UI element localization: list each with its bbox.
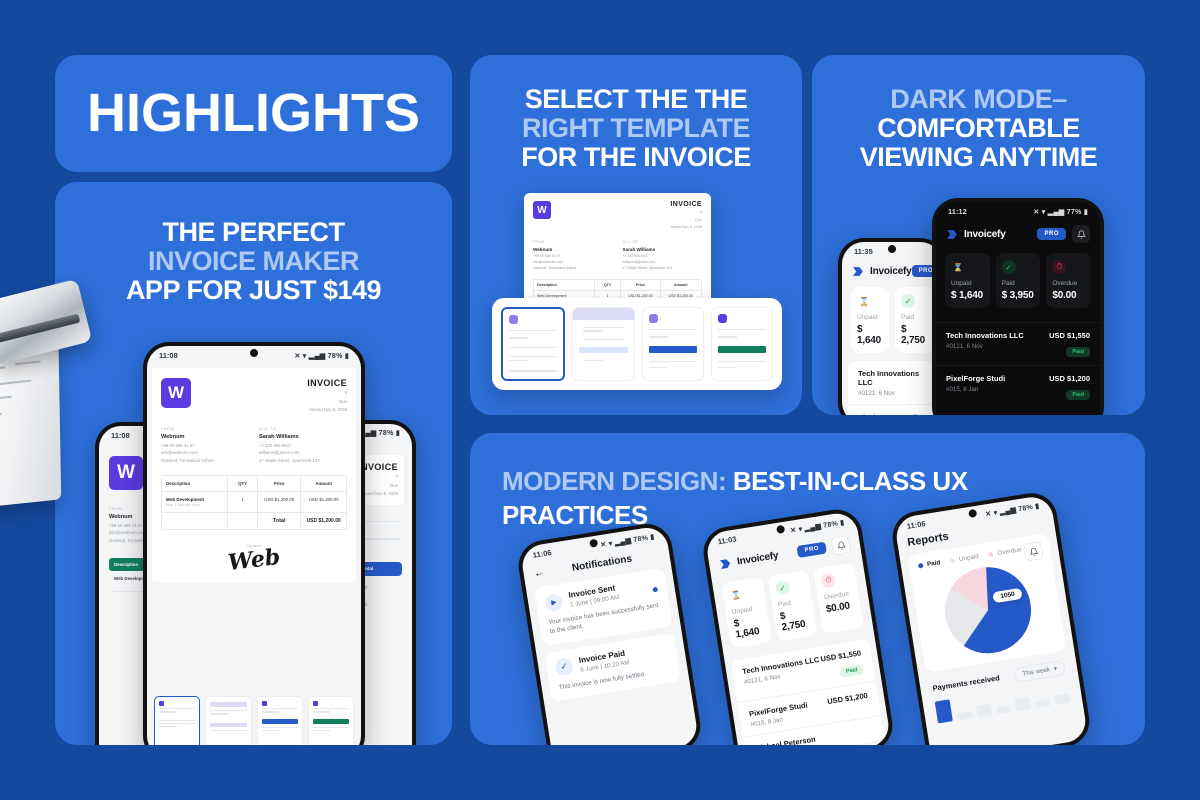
modern-line-2: BEST-IN-CLASS UX (733, 466, 968, 496)
template-card-blue[interactable] (642, 307, 704, 381)
bill-to-label: BILL TO (259, 426, 347, 431)
client-phone: +1 332 666 8547 (259, 442, 347, 449)
statusbar-time: 11:12 (948, 207, 967, 216)
modern-line-1: MODERN DESIGN: (502, 466, 726, 496)
clock-icon: ⏱ (821, 572, 837, 588)
invoice-client: PixelForge Studi (858, 413, 917, 415)
statusbar-icons: ✕ ▾ ▂▄▆ 78% ▮ (294, 352, 349, 360)
stat-value: $ 2,750 (779, 607, 811, 633)
legend-label: Unpaid (959, 553, 980, 563)
template-thumb-green[interactable] (308, 696, 354, 745)
dark-line-2: COMFORTABLE (824, 114, 1133, 143)
brand-logo-icon: W (161, 378, 191, 408)
screen-notifications: 11:06 ✕ ▾ ▂▄▆ 78% ▮ ← Notifications ► In… (520, 525, 700, 745)
from-address: Gastand, Tunisaland Ashort (161, 457, 249, 464)
cell-price: USD $1,200.00 (258, 492, 301, 512)
brand-logo-icon: W (533, 201, 551, 219)
pro-badge[interactable]: PRO (1037, 228, 1066, 240)
phone-notifications[interactable]: 11:06 ✕ ▾ ▂▄▆ 78% ▮ ← Notifications ► In… (515, 520, 704, 745)
stat-overdue[interactable]: ⏱ Overdue $0.00 (814, 562, 864, 634)
list-item[interactable]: Tech Innovations LLC #0121, 6 Nov USD $1… (936, 322, 1100, 365)
bell-icon[interactable] (1072, 225, 1090, 243)
stat-value: $ 3,950 (1002, 290, 1035, 301)
cell-description-text: Web Development (166, 497, 204, 502)
legend-label: Paid (927, 559, 941, 568)
phone-main-invoice[interactable]: 11:08 ✕ ▾ ▂▄▆ 78% ▮ W INVOICE # Due Issu… (143, 342, 365, 745)
brand: Invoicefy (946, 229, 1006, 240)
receipt-printer-illustration (0, 290, 91, 540)
panel-dark-mode: DARK MODE– COMFORTABLE VIEWING ANYTIME 1… (812, 55, 1145, 415)
from-address: Gastand, Tunisaland Ashort (533, 266, 613, 272)
template-line-1: SELECT THE THE (486, 85, 786, 114)
bill-to-label: BILL TO (623, 240, 703, 244)
dark-line-1: DARK MODE (890, 84, 1052, 114)
notification-item[interactable]: ✓ Invoice Paid 6 June | 10:20 AM This in… (544, 633, 681, 702)
statusbar-time: 11:03 (717, 534, 737, 546)
stat-label: Paid (1002, 280, 1035, 287)
column-amount: Amount (301, 476, 346, 491)
legend-unpaid[interactable]: Unpaid (950, 553, 980, 564)
cell-description-sub: Web. & Mrk new Level (166, 503, 223, 507)
from-name: Webnum (161, 434, 249, 440)
stat-value: $0.00 (1052, 290, 1085, 301)
poster-canvas: HIGHLIGHTS THE PERFECT INVOICE MAKER APP… (0, 0, 1200, 800)
printer-body (0, 279, 92, 365)
template-thumb-lavender[interactable] (205, 696, 251, 745)
template-line-2: RIGHT TEMPLATE (486, 114, 786, 143)
modern-line-3: PRACTICES (502, 499, 1090, 533)
stat-value: $ 1,640 (857, 324, 883, 346)
stat-label: Paid (901, 314, 927, 321)
stat-unpaid[interactable]: ⌛ Unpaid $ 1,640 (945, 253, 990, 308)
invoice-meta: #015, 8 Jan (946, 386, 1005, 393)
bell-icon[interactable] (831, 535, 852, 556)
client-name: Sarah Williams (259, 434, 347, 440)
total-spacer-2 (228, 513, 258, 529)
brand-logo-icon: W (109, 456, 143, 490)
pie-chart-svg (939, 561, 1037, 659)
template-title: SELECT THE THE RIGHT TEMPLATE FOR THE IN… (470, 55, 802, 172)
bar (1035, 699, 1051, 707)
bill-to-block: BILL TO Sarah Williams +1 332 666 8547 w… (259, 426, 347, 464)
list-item[interactable]: PixelForge Studi #015, 8 Jan USD $1,200 … (936, 365, 1100, 408)
dark-dash: – (1052, 84, 1067, 114)
table-header-row: Description QTY Price Amount (162, 476, 346, 492)
list-item[interactable]: PixelForge Studi #015, 8 Jan (848, 404, 936, 415)
check-circle-icon: ✓ (901, 294, 915, 308)
column-qty: QTY (595, 280, 621, 290)
send-icon: ► (544, 592, 563, 611)
column-amount: Amount (661, 280, 701, 290)
from-label: FROM (533, 240, 613, 244)
stat-value: $ 1,640 (951, 290, 984, 301)
legend-paid[interactable]: Paid (918, 559, 941, 569)
status-badge: Paid (839, 664, 864, 678)
bar (935, 699, 953, 723)
template-preview-document: W INVOICE # Due Issued Nov 6, 2026 FROM … (524, 193, 711, 311)
signature-block: Signature Web (161, 544, 347, 572)
column-qty: QTY (228, 476, 258, 491)
camera-punch-hole (888, 245, 896, 253)
invoice-amount: USD $1,550 (1049, 331, 1090, 340)
invoice-meta: #0121, 6 Nov (946, 343, 1024, 350)
status-badge: Paid (1066, 347, 1090, 357)
invoice-list: Tech Innovations LLC #0121, 6 Nov USD $1… (731, 639, 885, 745)
cell-qty: 1 (228, 492, 258, 512)
clock-icon: ⏱ (1052, 260, 1066, 274)
invoice-client: Michael Peterson (754, 735, 816, 745)
stat-paid[interactable]: ✓ Paid $ 2,750 (767, 570, 817, 642)
template-card-classic[interactable] (501, 307, 565, 381)
table-total-row: Total USD $1,200.00 (162, 513, 346, 529)
modern-design-title: MODERN DESIGN: BEST-IN-CLASS UX PRACTICE… (470, 433, 1090, 533)
total-value: USD $1,200.00 (301, 513, 346, 529)
statusbar-icons: ✕ ▾ ▂▄▆ 77% ▮ (1033, 208, 1088, 216)
invoice-amount: USD $1,200 (1049, 374, 1090, 383)
panel-perfect-invoice-maker: THE PERFECT INVOICE MAKER APP FOR JUST $… (55, 182, 452, 745)
stat-paid[interactable]: ✓ Paid $ 2,750 (895, 287, 933, 353)
printer-paper-slot (0, 314, 80, 344)
invoice-due: Due (670, 218, 702, 224)
invoice-amount: USD $1,200 (827, 691, 869, 706)
from-block: FROM Webnum +99 65 586 41 67 info@webnum… (161, 426, 249, 464)
cell-amount: USD $1,200.00 (301, 492, 346, 512)
from-label: FROM (161, 426, 249, 431)
legend-label: Overdue (997, 546, 1022, 557)
column-price: Price (621, 280, 660, 290)
legend-dot-icon (918, 563, 924, 569)
check-circle-icon: ✓ (1002, 260, 1016, 274)
total-spacer (162, 513, 228, 529)
chevron-down-icon: ▾ (1053, 665, 1057, 672)
invoice-due: Due (307, 399, 347, 406)
template-thumb-classic[interactable] (154, 696, 200, 745)
brand-name: Invoicefy (736, 550, 779, 567)
brand-name: Invoicefy (964, 229, 1006, 240)
stat-paid[interactable]: ✓ Paid $ 3,950 (996, 253, 1041, 308)
bar (976, 704, 992, 717)
invoice-parties: FROM Webnum +99 65 586 41 67 info@webnum… (161, 426, 347, 464)
status-badge: Paid (1066, 390, 1090, 400)
client-address: 47 Maple Street, Apartment 12A (623, 266, 703, 272)
screen-light-dashboard-2: 11:03 ✕ ▾ ▂▄▆ 78% ▮ Invoicefy PRO (704, 511, 891, 745)
statusbar-time: 11:06 (532, 548, 552, 560)
client-name: Sarah Williams (623, 247, 703, 252)
invoicefy-logo-icon (718, 557, 733, 570)
legend-dot-icon (988, 552, 994, 558)
camera-punch-hole (250, 349, 258, 357)
hourglass-icon: ⌛ (951, 260, 965, 274)
invoice-issued: Issued Nov 6, 2026 (307, 407, 347, 414)
legend-dot-icon (950, 558, 956, 564)
phone-light-dashboard[interactable]: 11:03 ✕ ▾ ▂▄▆ 78% ▮ Invoicefy PRO (700, 506, 896, 745)
perfect-line-3: APP FOR JUST $149 (79, 276, 428, 305)
template-thumb-blue[interactable] (257, 696, 303, 745)
invoice-header: W INVOICE # Due Issued Nov 6, 2026 (161, 378, 347, 414)
perfect-title: THE PERFECT INVOICE MAKER APP FOR JUST $… (55, 182, 452, 305)
highlights-title: HIGHLIGHTS (55, 55, 452, 172)
statusbar-dark-main: 11:12 ✕ ▾ ▂▄▆ 77% ▮ (936, 202, 1100, 218)
invoice-client: PixelForge Studi (946, 374, 1005, 383)
stat-value: $0.00 (825, 600, 855, 615)
invoice-issued: Issued Nov 6, 2026 (670, 225, 702, 231)
template-card-green[interactable] (711, 307, 773, 381)
invoice-meta: #0121, 6 Nov (858, 390, 926, 397)
template-gallery-tray[interactable] (492, 298, 782, 390)
stat-unpaid[interactable]: ⌛ Unpaid $ 1,640 (851, 287, 889, 353)
invoicefy-logo-icon (852, 266, 865, 277)
from-name: Webnum (533, 247, 613, 252)
invoice-list: Tech Innovations LLC #0121, 6 Nov USD $1… (936, 322, 1100, 408)
screen-dark-dashboard: 11:12 ✕ ▾ ▂▄▆ 77% ▮ Invoicefy PRO (936, 202, 1100, 415)
stat-overdue[interactable]: ⏱ Overdue $0.00 (1046, 253, 1091, 308)
table-row: Web Development Web. & Mrk new Level 1 U… (162, 492, 346, 513)
template-line-3: FOR THE INVOICE (486, 143, 786, 172)
reports-chart-card: Paid Unpaid Overdue (907, 533, 1066, 673)
cell-description: Web Development Web. & Mrk new Level (162, 492, 228, 512)
stat-label: Overdue (1052, 280, 1085, 287)
column-price: Price (258, 476, 301, 491)
stat-unpaid[interactable]: ⌛ Unpaid $ 1,640 (721, 577, 771, 649)
stats-row: ⌛ Unpaid $ 1,640 ✓ Paid $ 2,750 (842, 283, 942, 361)
bar (996, 705, 1012, 714)
invoicefy-logo-icon (946, 229, 959, 240)
screen-light-dashboard: 11:35 Invoicefy PRO ⌛ Unpaid (842, 242, 942, 415)
client-address: 47 Maple Street, Apartment 12A (259, 457, 347, 464)
stat-value: $ 1,640 (733, 614, 765, 640)
check-circle-icon: ✓ (555, 657, 574, 676)
check-circle-icon: ✓ (774, 580, 790, 596)
stat-label: Unpaid (951, 280, 984, 287)
column-description: Description (162, 476, 228, 491)
invoice-line-items-table: Description QTY Price Amount Web Develop… (161, 475, 347, 530)
phone-dark-dashboard[interactable]: 11:12 ✕ ▾ ▂▄▆ 77% ▮ Invoicefy PRO (932, 198, 1104, 415)
stat-value: $ 2,750 (901, 324, 927, 346)
template-card-lavender[interactable] (572, 307, 634, 381)
brand-name: Invoicefy (870, 266, 912, 277)
hourglass-icon: ⌛ (728, 587, 744, 603)
brand: Invoicefy (718, 550, 779, 570)
panel-select-template: SELECT THE THE RIGHT TEMPLATE FOR THE IN… (470, 55, 802, 415)
from-email: info@webnum.com (161, 449, 249, 456)
client-email: williams@gmion.com (259, 449, 347, 456)
invoice-number: # (307, 390, 347, 397)
perfect-line-2: INVOICE MAKER (79, 247, 428, 276)
template-carousel[interactable] (147, 696, 361, 745)
stat-label: Unpaid (857, 314, 883, 321)
invoice-number: # (670, 210, 702, 216)
app-header: Invoicefy PRO (936, 218, 1100, 249)
legend-overdue[interactable]: Overdue (988, 546, 1022, 558)
phone-light-dashboard-behind: 11:35 Invoicefy PRO ⌛ Unpaid (838, 238, 946, 415)
total-label: Total (258, 513, 301, 529)
invoice-client: Tech Innovations LLC (858, 369, 926, 387)
panel-modern-design: MODERN DESIGN: BEST-IN-CLASS UX PRACTICE… (470, 433, 1145, 745)
statusbar-time: 11:08 (111, 431, 130, 440)
panel-highlights: HIGHLIGHTS (55, 55, 452, 172)
invoice-client: Tech Innovations LLC (946, 331, 1024, 340)
statusbar-time: 11:08 (159, 351, 178, 360)
dark-mode-title: DARK MODE– COMFORTABLE VIEWING ANYTIME (812, 55, 1145, 172)
brand: Invoicefy (852, 266, 912, 277)
hourglass-icon: ⌛ (857, 294, 871, 308)
bar (957, 711, 973, 721)
bar (1015, 697, 1032, 711)
invoice-heading: INVOICE (670, 201, 702, 208)
app-header: Invoicefy PRO (842, 258, 942, 283)
statusbar-time: 11:35 (854, 247, 873, 256)
invoice-heading: INVOICE (307, 378, 347, 388)
invoice-document: W INVOICE # Due Issued Nov 6, 2026 FROM … (152, 368, 356, 582)
pie-chart: 1050 (920, 558, 1056, 662)
bar (1054, 694, 1070, 705)
perfect-line-1: THE PERFECT (79, 218, 428, 247)
screen-main-invoice: 11:08 ✕ ▾ ▂▄▆ 78% ▮ W INVOICE # Due Issu… (147, 346, 361, 745)
from-phone: +99 65 586 41 67 (161, 442, 249, 449)
range-label: This week (1022, 666, 1051, 677)
signature-mark: Web (227, 546, 282, 574)
column-description: Description (534, 280, 595, 290)
stats-row: ⌛ Unpaid $ 1,640 ✓ Paid $ 3,950 ⏱ Overdu… (936, 249, 1100, 316)
pro-badge[interactable]: PRO (797, 542, 827, 558)
list-item[interactable]: Tech Innovations LLC #0121, 6 Nov (848, 361, 936, 404)
dark-line-3: VIEWING ANYTIME (824, 143, 1133, 172)
